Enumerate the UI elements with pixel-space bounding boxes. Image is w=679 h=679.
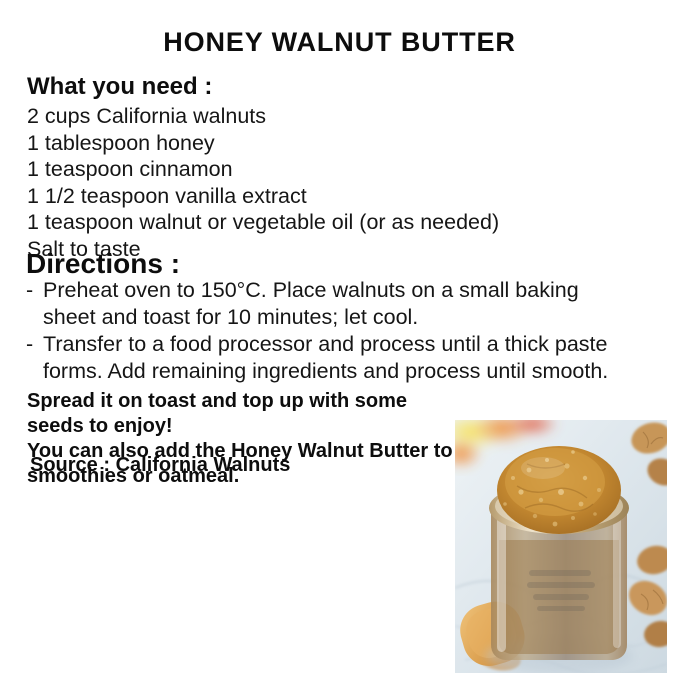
list-item: 1 tablespoon honey xyxy=(27,130,627,157)
source-attribution: Source : California Walnuts xyxy=(30,454,290,477)
page-title: HONEY WALNUT BUTTER xyxy=(0,27,679,58)
ingredients-heading: What you need : xyxy=(27,74,212,99)
directions-heading: Directions : xyxy=(26,249,180,279)
list-item: 2 cups California walnuts xyxy=(27,103,627,130)
walnut-butter-jar-image xyxy=(455,420,667,673)
list-item: Spread it on toast and top up with some … xyxy=(27,389,457,439)
direction-step-text: Preheat oven to 150°C. Place walnuts on … xyxy=(43,277,636,330)
list-item: 1 teaspoon walnut or vegetable oil (or a… xyxy=(27,209,627,236)
bullet-dash: - xyxy=(26,331,33,358)
list-item: - Transfer to a food processor and proce… xyxy=(26,331,636,384)
list-item: 1 1/2 teaspoon vanilla extract xyxy=(27,183,627,210)
bullet-dash: - xyxy=(26,277,33,304)
list-item: - Preheat oven to 150°C. Place walnuts o… xyxy=(26,277,636,330)
ingredients-list: 2 cups California walnuts 1 tablespoon h… xyxy=(27,103,627,263)
list-item: 1 teaspoon cinnamon xyxy=(27,156,627,183)
direction-step-text: Transfer to a food processor and process… xyxy=(43,331,636,384)
recipe-card: HONEY WALNUT BUTTER What you need : 2 cu… xyxy=(0,0,679,679)
recipe-photo xyxy=(455,420,667,673)
directions-list: - Preheat oven to 150°C. Place walnuts o… xyxy=(26,277,636,385)
